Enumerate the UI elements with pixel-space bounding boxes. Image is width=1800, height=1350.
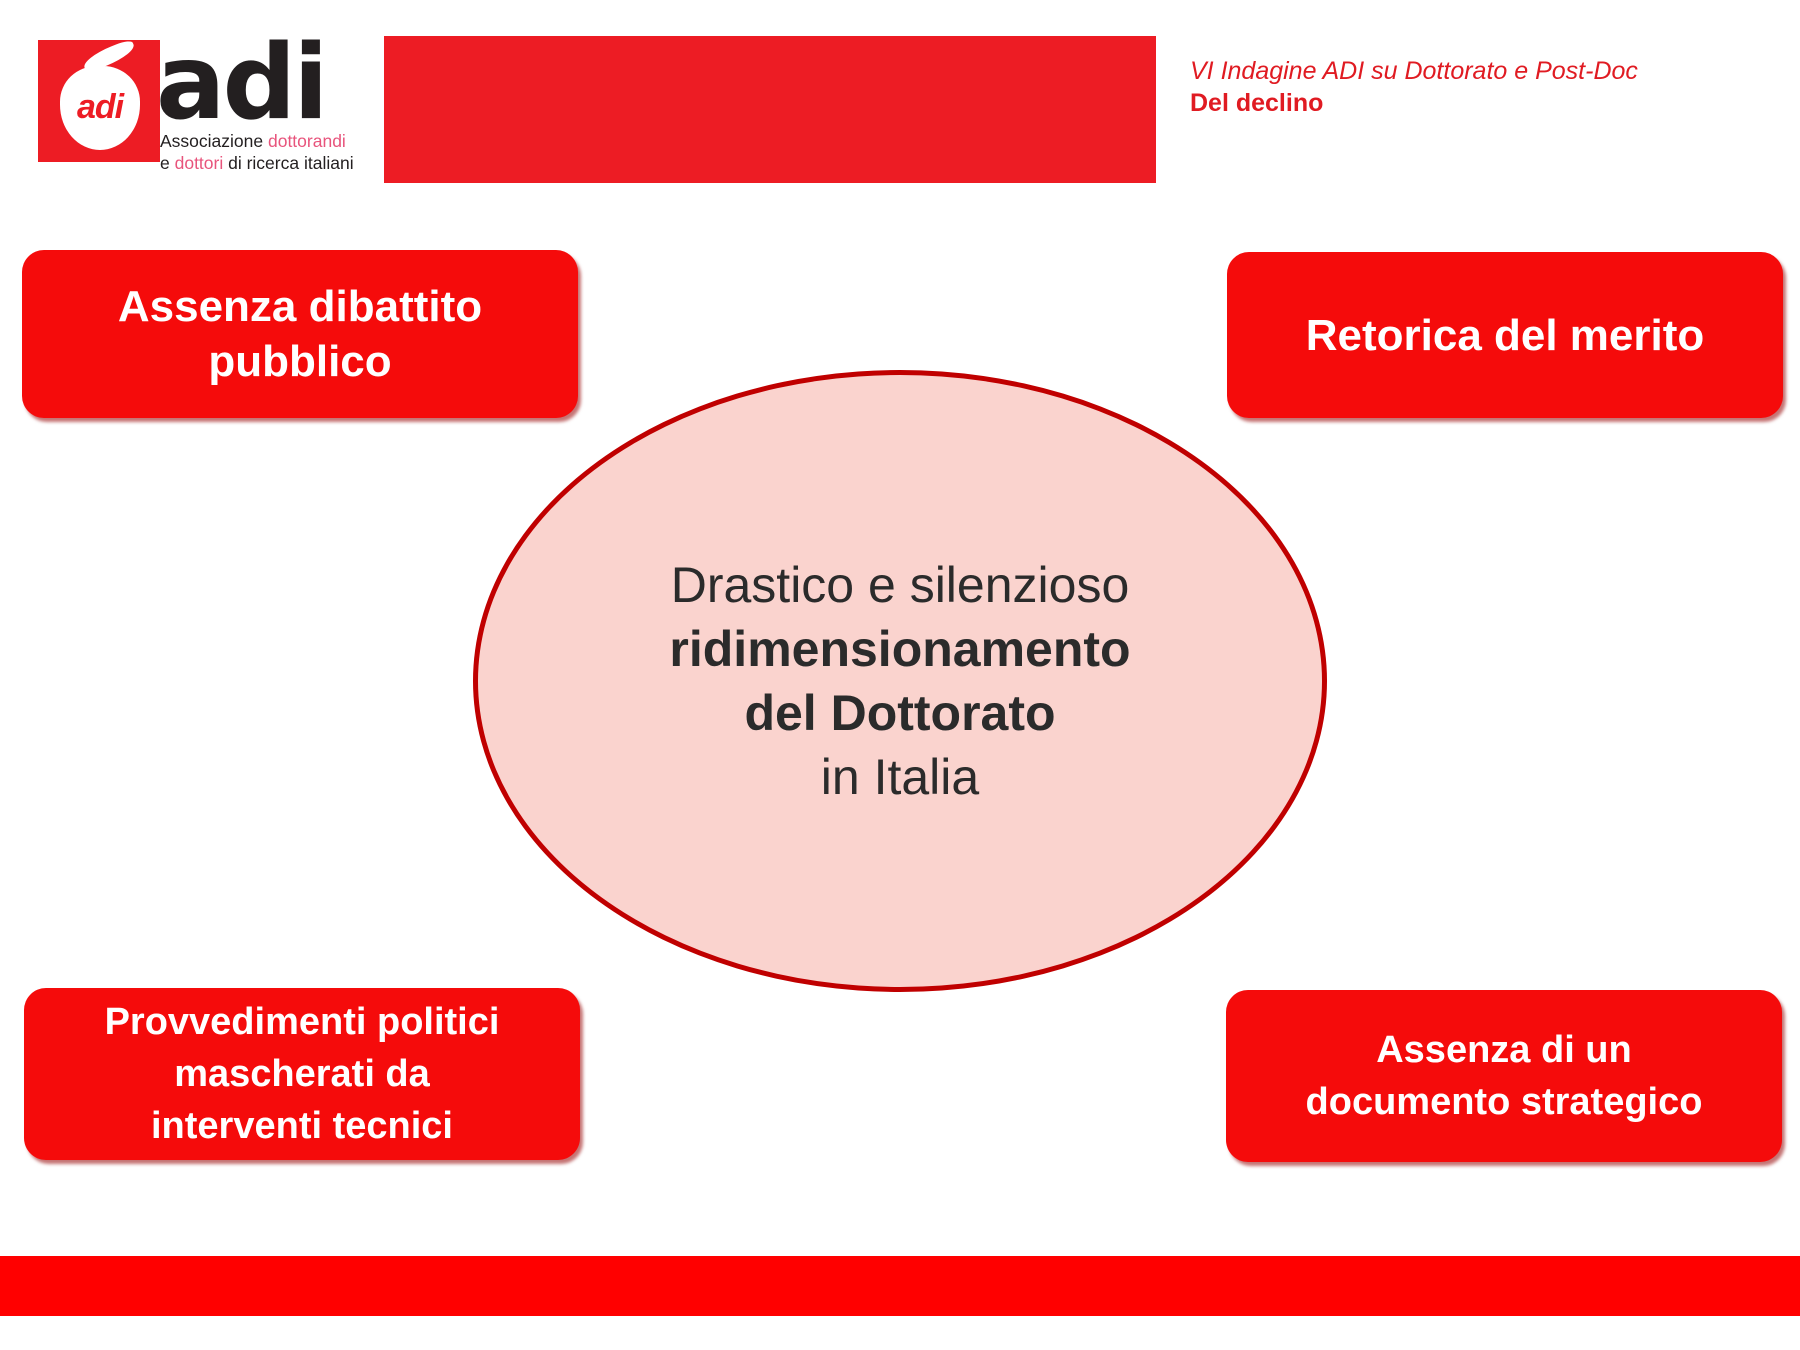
factor-box-bottom-left-label: Provvedimenti politici mascherati da int… [105,996,500,1152]
survey-title: VI Indagine ADI su Dottorato e Post-Doc [1190,55,1790,87]
factor-box-top-left-label: Assenza dibattito pubblico [118,279,482,389]
central-ellipse-text: Drastico e silenzioso ridimensionamento … [580,553,1220,809]
tagline-accent-1: dottorandi [268,131,346,151]
central-text-line-1: Drastico e silenzioso [580,553,1220,617]
adi-logo-tagline-line-2: e dottori di ricerca italiani [160,152,354,174]
adi-logo: adi adi Associazione dottorandi e dottor… [38,32,338,172]
central-text-line-2: ridimensionamento [580,617,1220,681]
section-title: Del declino [1190,87,1790,119]
header-red-banner [384,36,1156,183]
header-title-block: VI Indagine ADI su Dottorato e Post-Doc … [1190,55,1790,119]
adi-logo-tagline-line-1: Associazione dottorandi [160,130,354,152]
factor-box-bottom-left[interactable]: Provvedimenti politici mascherati da int… [24,988,580,1160]
factor-box-top-left[interactable]: Assenza dibattito pubblico [22,250,578,418]
factor-box-top-right-label: Retorica del merito [1306,308,1705,363]
tagline-accent-2: dottori [175,153,224,173]
tagline-plain-1: Associazione [160,131,268,151]
adi-logo-mark-text: adi [64,90,136,124]
factor-box-top-right[interactable]: Retorica del merito [1227,252,1783,418]
factor-box-bottom-right[interactable]: Assenza di un documento strategico [1226,990,1782,1162]
central-text-line-3: del Dottorato [580,681,1220,745]
slide-canvas: adi adi Associazione dottorandi e dottor… [0,0,1800,1350]
tagline-plain-2a: e [160,153,175,173]
footer-red-bar [0,1256,1800,1316]
central-ellipse[interactable]: Drastico e silenzioso ridimensionamento … [473,370,1327,992]
adi-logo-tagline: Associazione dottorandi e dottori di ric… [160,130,354,174]
adi-logo-apple-mark: adi [38,40,160,162]
adi-wordmark: adi [156,32,326,135]
factor-box-bottom-right-label: Assenza di un documento strategico [1306,1024,1703,1128]
tagline-plain-2b: di ricerca italiani [223,153,353,173]
central-text-line-4: in Italia [580,745,1220,809]
